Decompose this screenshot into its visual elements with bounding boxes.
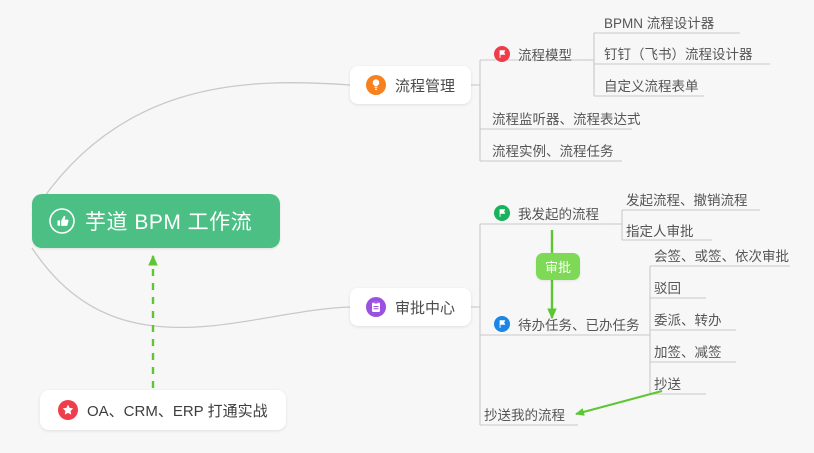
flag-icon (494, 316, 510, 332)
leaf-label: 我发起的流程 (518, 203, 599, 223)
leaf-process-model[interactable]: 流程模型 (494, 44, 572, 64)
leaf-label: 加签、减签 (654, 341, 722, 361)
leaf-cc-to-me-process[interactable]: 抄送我的流程 (484, 404, 565, 424)
integration-card[interactable]: OA、CRM、ERP 打通实战 (40, 390, 286, 430)
leaf-label: 抄送 (654, 373, 681, 393)
leaf-label: 流程监听器、流程表达式 (492, 108, 641, 128)
leaf-label: 待办任务、已办任务 (518, 314, 640, 334)
leaf-todo-done-tasks[interactable]: 待办任务、已办任务 (494, 314, 640, 334)
thumbs-up-icon (49, 208, 75, 234)
leaf-process-listener-expression[interactable]: 流程监听器、流程表达式 (492, 108, 641, 128)
leaf-start-cancel-process[interactable]: 发起流程、撤销流程 (626, 189, 748, 209)
flag-icon (494, 205, 510, 221)
leaf-label: 自定义流程表单 (604, 75, 699, 95)
leaf-label: 指定人审批 (626, 220, 694, 240)
leaf-label: 流程模型 (518, 44, 572, 64)
leaf-add-remove-sign[interactable]: 加签、减签 (654, 341, 722, 361)
leaf-assignee-approval[interactable]: 指定人审批 (626, 220, 694, 240)
root-label: 芋道 BPM 工作流 (85, 206, 252, 236)
leaf-process-instance-task[interactable]: 流程实例、流程任务 (492, 140, 614, 160)
leaf-label: 抄送我的流程 (484, 404, 565, 424)
leaf-delegate-transfer[interactable]: 委派、转办 (654, 309, 722, 329)
branch-label: 流程管理 (395, 75, 455, 96)
clipboard-icon (366, 297, 386, 317)
leaf-label: 发起流程、撤销流程 (626, 189, 748, 209)
leaf-dingtalk-feishu-designer[interactable]: 钉钉（飞书）流程设计器 (604, 43, 753, 63)
mindmap-canvas: 芋道 BPM 工作流 流程管理 审批中心 (0, 0, 814, 453)
branch-label: 审批中心 (395, 297, 455, 318)
leaf-label: 会签、或签、依次审批 (654, 245, 789, 265)
integration-card-label: OA、CRM、ERP 打通实战 (87, 400, 268, 421)
approval-tag[interactable]: 审批 (536, 253, 580, 280)
star-icon (58, 400, 78, 420)
branch-node-approval-center[interactable]: 审批中心 (350, 288, 471, 326)
branch-node-process-management[interactable]: 流程管理 (350, 66, 471, 104)
leaf-countersign-approval[interactable]: 会签、或签、依次审批 (654, 245, 789, 265)
leaf-label: 驳回 (654, 277, 681, 297)
leaf-label: 流程实例、流程任务 (492, 140, 614, 160)
leaf-label: BPMN 流程设计器 (604, 12, 714, 32)
leaf-bpmn-designer[interactable]: BPMN 流程设计器 (604, 12, 714, 32)
leaf-label: 委派、转办 (654, 309, 722, 329)
root-node[interactable]: 芋道 BPM 工作流 (32, 194, 280, 248)
leaf-reject[interactable]: 驳回 (654, 277, 681, 297)
leaf-label: 钉钉（飞书）流程设计器 (604, 43, 753, 63)
lightbulb-icon (366, 75, 386, 95)
leaf-my-initiated-process[interactable]: 我发起的流程 (494, 203, 599, 223)
flag-icon (494, 46, 510, 62)
leaf-custom-process-form[interactable]: 自定义流程表单 (604, 75, 699, 95)
leaf-cc[interactable]: 抄送 (654, 373, 681, 393)
